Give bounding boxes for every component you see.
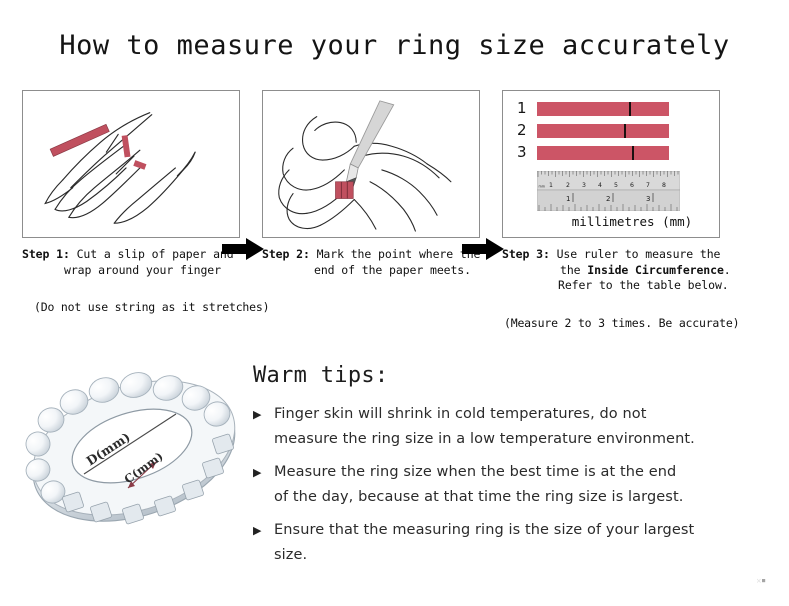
inside-circumference-emphasis: Inside Circumference bbox=[587, 263, 723, 277]
strip-mark-1 bbox=[629, 102, 631, 116]
step-1-label: Step 1: bbox=[22, 247, 70, 261]
step-2-label: Step 2: bbox=[262, 247, 310, 261]
step-3-text-2: the bbox=[560, 263, 587, 277]
corner-artifact bbox=[757, 578, 766, 585]
step-3-caption: Step 3: Use ruler to measure the the Ins… bbox=[502, 247, 738, 294]
svg-text:mm: mm bbox=[539, 185, 546, 189]
step-2-text-1: Mark the point where the bbox=[317, 247, 481, 261]
svg-text:2: 2 bbox=[606, 195, 610, 203]
tip-3-line-1: Ensure that the measuring ring is the si… bbox=[274, 518, 773, 543]
svg-text:4: 4 bbox=[598, 182, 602, 189]
strip-mark-2 bbox=[624, 124, 626, 138]
svg-text:3: 3 bbox=[646, 195, 650, 203]
measured-strips-figure: 1 2 3 bbox=[517, 101, 707, 229]
svg-text:2: 2 bbox=[566, 182, 570, 189]
step-1-illustration-panel bbox=[22, 90, 240, 238]
step-3-text-1: Use ruler to measure the bbox=[557, 247, 721, 261]
hand-with-paper-strip-icon bbox=[23, 91, 239, 237]
tip-1-line-2: measure the ring size in a low temperatu… bbox=[274, 427, 773, 452]
tip-2-line-2: of the day, because at that time the rin… bbox=[274, 485, 773, 510]
triangle-bullet-icon-1: ▶ bbox=[253, 402, 262, 427]
paper-strip-1 bbox=[537, 102, 669, 116]
step-3-note: (Measure 2 to 3 times. Be accurate) bbox=[502, 316, 742, 330]
paper-strip-2 bbox=[537, 124, 669, 138]
warm-tips-heading: Warm tips: bbox=[253, 363, 773, 388]
tip-1-text: Finger skin will shrink in cold temperat… bbox=[274, 402, 773, 452]
step-3-caption-line-2: the Inside Circumference. bbox=[502, 263, 738, 279]
strip-number-3: 3 bbox=[517, 143, 533, 161]
tip-item-1: ▶ Finger skin will shrink in cold temper… bbox=[253, 402, 773, 452]
triangle-bullet-icon-2: ▶ bbox=[253, 460, 262, 485]
ruler-icon: 123 456 78 mm bbox=[537, 171, 680, 211]
step-1-caption-line-2: wrap around your finger bbox=[22, 263, 258, 279]
step-2-illustration-panel bbox=[262, 90, 480, 238]
tip-item-2: ▶ Measure the ring size when the best ti… bbox=[253, 460, 773, 510]
svg-text:1: 1 bbox=[566, 195, 570, 203]
svg-text:6: 6 bbox=[630, 182, 634, 189]
tip-item-3: ▶ Ensure that the measuring ring is the … bbox=[253, 518, 773, 568]
step-3-caption-line-3: Refer to the table below. bbox=[502, 278, 738, 294]
strip-mark-3 bbox=[632, 146, 634, 160]
step-2-caption-line-2: end of the paper meets. bbox=[262, 263, 498, 279]
step-3-label: Step 3: bbox=[502, 247, 550, 261]
arrow-right-icon-1 bbox=[222, 236, 264, 262]
step-column-3: 1 2 3 bbox=[502, 90, 742, 330]
strip-number-1: 1 bbox=[517, 99, 533, 117]
tip-1-line-1: Finger skin will shrink in cold temperat… bbox=[274, 402, 773, 427]
strip-row-2: 2 bbox=[517, 123, 707, 140]
step-3-emphasis-suffix: . bbox=[724, 263, 731, 277]
step-column-1: Step 1: Cut a slip of paper and wrap aro… bbox=[22, 90, 262, 314]
tip-2-text: Measure the ring size when the best time… bbox=[274, 460, 773, 510]
strip-row-1: 1 bbox=[517, 101, 707, 118]
strip-number-2: 2 bbox=[517, 121, 533, 139]
tip-2-line-1: Measure the ring size when the best time… bbox=[274, 460, 773, 485]
svg-text:7: 7 bbox=[646, 182, 650, 189]
step-1-text-1: Cut a slip of paper and bbox=[77, 247, 234, 261]
strip-row-3: 3 bbox=[517, 145, 707, 162]
steps-row: Step 1: Cut a slip of paper and wrap aro… bbox=[0, 90, 789, 338]
page-title: How to measure your ring size accurately bbox=[0, 30, 789, 61]
svg-text:8: 8 bbox=[662, 182, 666, 189]
svg-text:3: 3 bbox=[582, 182, 586, 189]
tip-3-line-2: size. bbox=[274, 543, 773, 568]
tip-3-text: Ensure that the measuring ring is the si… bbox=[274, 518, 773, 568]
svg-text:5: 5 bbox=[614, 182, 618, 189]
warm-tips-section: Warm tips: ▶ Finger skin will shrink in … bbox=[253, 363, 773, 576]
step-3-illustration-panel: 1 2 3 bbox=[502, 90, 720, 238]
triangle-bullet-icon-3: ▶ bbox=[253, 518, 262, 543]
svg-text:1: 1 bbox=[549, 182, 553, 189]
step-3-caption-line-1: Step 3: Use ruler to measure the bbox=[502, 247, 738, 263]
ruler-unit-caption: millimetres (mm) bbox=[557, 214, 707, 229]
step-1-note: (Do not use string as it stretches) bbox=[22, 300, 262, 314]
hand-marking-paper-icon bbox=[263, 91, 479, 237]
ring-diagram: D(mm) C(mm) bbox=[18, 352, 250, 552]
paper-strip-3 bbox=[537, 146, 669, 160]
arrow-right-icon-2 bbox=[462, 236, 504, 262]
